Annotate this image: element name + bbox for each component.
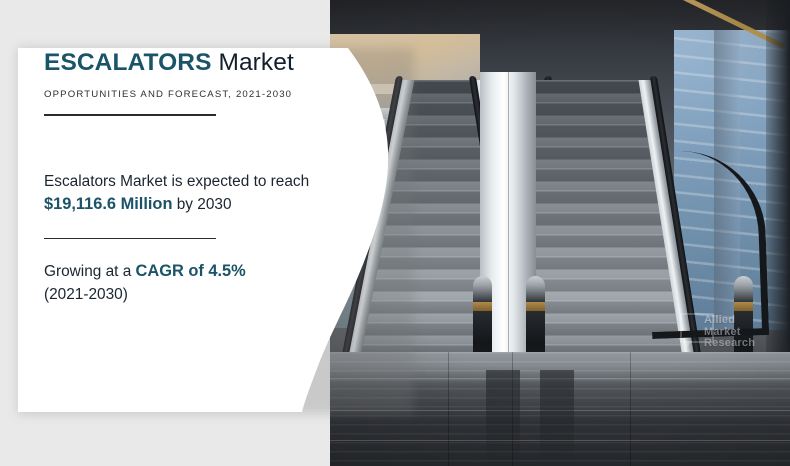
floor-shadow bbox=[540, 370, 574, 466]
cagr-value: CAGR of 4.5% bbox=[136, 262, 246, 280]
floor-tile-line bbox=[448, 352, 449, 466]
title-suffix: Market bbox=[212, 49, 294, 76]
market-size-trail: by 2030 bbox=[172, 196, 231, 213]
floor-tile-line bbox=[630, 352, 631, 466]
page-title: ESCALATORS Market bbox=[44, 48, 344, 78]
infographic-banner: Allied Market Research ESCALATORS Market… bbox=[0, 0, 790, 466]
market-size-lead: Escalators Market is expected to reach bbox=[44, 173, 309, 190]
floor-shadow bbox=[486, 370, 520, 466]
subtitle: OPPORTUNITIES AND FORECAST, 2021-2030 bbox=[44, 89, 344, 100]
cagr-lead: Growing at a bbox=[44, 263, 136, 280]
divider-top bbox=[44, 114, 216, 116]
title-keyword: ESCALATORS bbox=[44, 49, 212, 76]
market-size-statement: Escalators Market is expected to reach$1… bbox=[44, 170, 344, 216]
cagr-period: (2021-2030) bbox=[44, 286, 128, 303]
divider-bottom bbox=[44, 238, 216, 240]
cagr-statement: Growing at a CAGR of 4.5%(2021-2030) bbox=[44, 260, 344, 306]
newel-brass-band bbox=[526, 302, 545, 311]
content: ESCALATORS Market OPPORTUNITIES AND FORE… bbox=[44, 48, 344, 306]
newel-brass-band bbox=[473, 302, 492, 311]
market-size-value: $19,116.6 Million bbox=[44, 195, 172, 213]
